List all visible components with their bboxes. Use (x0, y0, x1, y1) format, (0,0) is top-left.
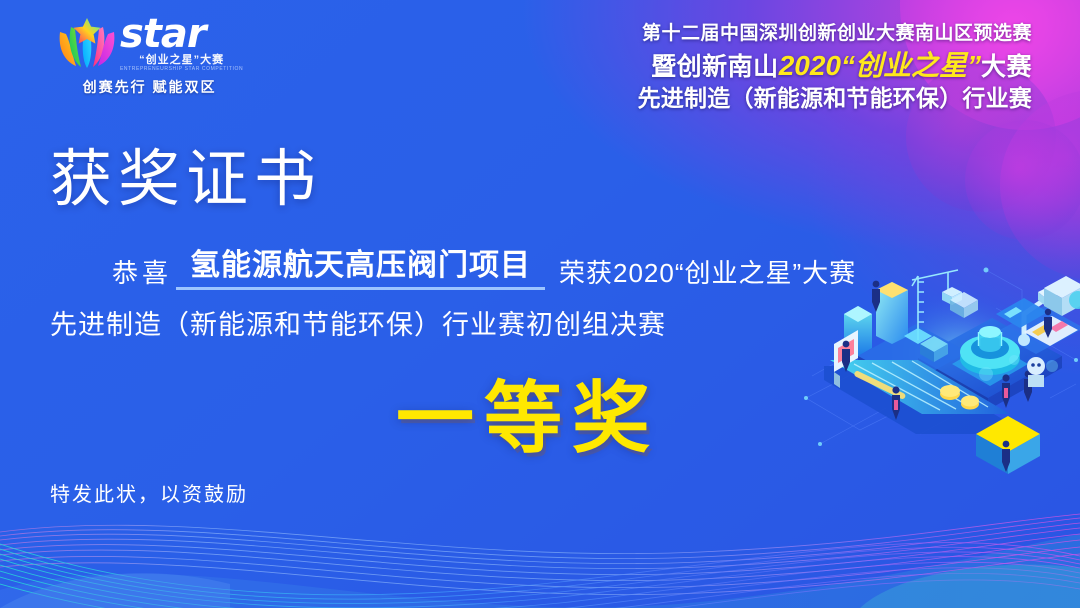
brand-logo: star “创业之星”大赛 ENTREPRENEURSHIP STAR COMP… (56, 14, 243, 97)
star-lotus-logo-icon (56, 16, 118, 70)
event-header-line2-highlight: 2020“创业之星” (779, 50, 981, 81)
category-line: 先进制造（新能源和节能环保）行业赛初创组决赛 (50, 303, 666, 342)
congrats-prefix: 恭喜 (112, 253, 172, 290)
event-header-line2-prefix: 暨创新南山 (651, 53, 779, 81)
event-header-line2: 暨创新南山2020“创业之星”大赛 (638, 48, 1032, 84)
award-certificate: star “创业之星”大赛 ENTREPRENEURSHIP STAR COMP… (0, 0, 1080, 608)
purple-blob-decoration-3 (965, 120, 1080, 240)
project-name: 氢能源航天高压阀门项目 (176, 240, 545, 290)
event-header-line2-suffix: 大赛 (981, 53, 1032, 81)
brand-tagline: 创赛先行 赋能双区 (83, 77, 217, 97)
congrats-suffix: 荣获2020“创业之星”大赛 (549, 253, 856, 290)
event-header-line1: 第十二届中国深圳创新创业大赛南山区预选赛 (638, 20, 1032, 48)
event-header-line3: 先进制造（新能源和节能环保）行业赛 (638, 84, 1032, 114)
logo-wordmark-block: star “创业之星”大赛 ENTREPRENEURSHIP STAR COMP… (120, 14, 243, 72)
event-header: 第十二届中国深圳创新创业大赛南山区预选赛 暨创新南山2020“创业之星”大赛 先… (638, 20, 1032, 114)
logo-wordmark-cn: “创业之星”大赛 (120, 55, 243, 66)
page-title: 获奖证书 (50, 128, 322, 218)
logo-row: star “创业之星”大赛 ENTREPRENEURSHIP STAR COMP… (56, 14, 243, 72)
congratulations-line: 恭喜 氢能源航天高压阀门项目 荣获2020“创业之星”大赛 (112, 240, 856, 290)
award-level: 一等奖 (396, 356, 660, 468)
wave-decoration (0, 498, 1080, 608)
logo-wordmark: star (120, 14, 243, 54)
logo-wordmark-en: ENTREPRENEURSHIP STAR COMPETITION (120, 67, 243, 72)
